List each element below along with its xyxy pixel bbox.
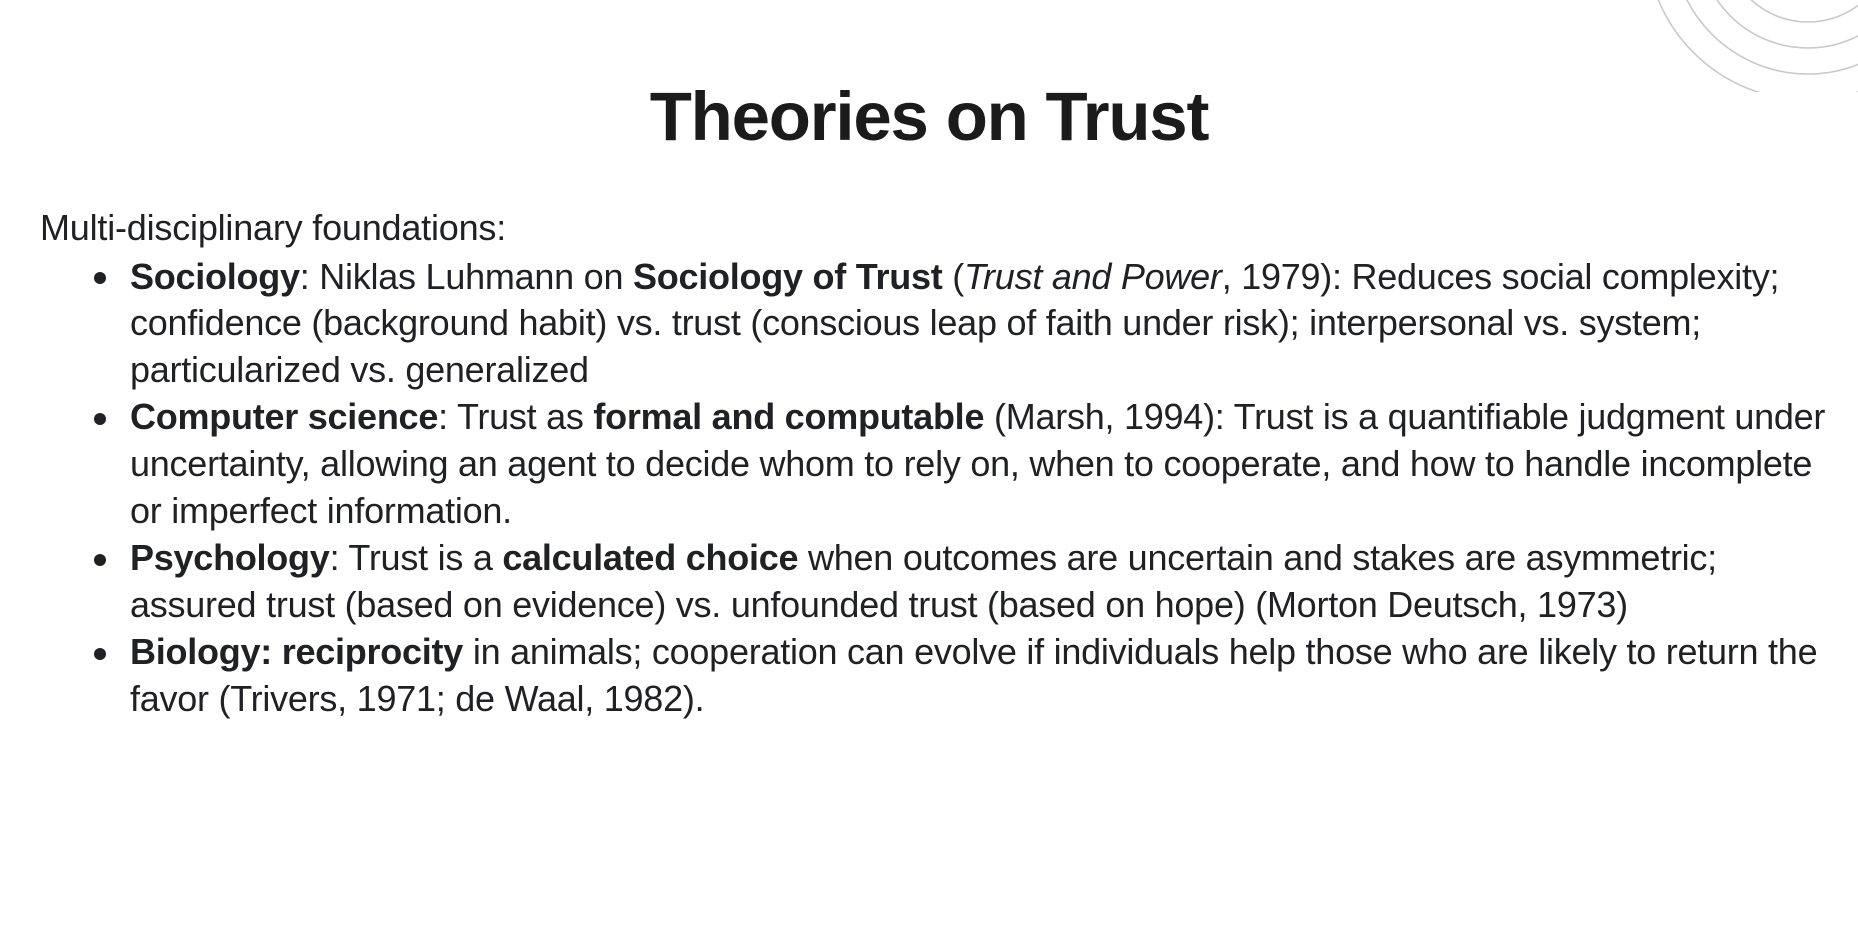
bullet-dot-icon <box>94 272 106 284</box>
text-run-bold: Biology: reciprocity <box>130 631 463 672</box>
corner-arcs-decoration <box>1638 0 1858 92</box>
bullet-item-sociology: Sociology: Niklas Luhmann on Sociology o… <box>40 254 1838 395</box>
bullet-text-sociology: Sociology: Niklas Luhmann on Sociology o… <box>130 256 1779 391</box>
text-run-regular: ( <box>942 256 964 297</box>
bullet-dot-icon <box>94 413 106 425</box>
bullet-item-psychology: Psychology: Trust is a calculated choice… <box>40 535 1838 629</box>
intro-text: Multi-disciplinary foundations: <box>40 204 1838 252</box>
bullet-item-computer-science: Computer science: Trust as formal and co… <box>40 394 1838 535</box>
slide-title: Theories on Trust <box>0 80 1858 153</box>
text-run-bold: formal and computable <box>593 396 984 437</box>
slide-body: Multi-disciplinary foundations: Sociolog… <box>40 168 1838 723</box>
text-run-bold: Computer science <box>130 396 438 437</box>
presentation-slide: Theories on Trust Multi-disciplinary fou… <box>0 0 1858 930</box>
text-run-bold: Sociology of Trust <box>633 256 943 297</box>
text-run-bold: Psychology <box>130 537 330 578</box>
text-run-regular: : Trust as <box>438 396 593 437</box>
bullet-text-biology: Biology: reciprocity in animals; coopera… <box>130 631 1817 719</box>
bullet-text-computer-science: Computer science: Trust as formal and co… <box>130 396 1825 531</box>
text-run-bold: Sociology <box>130 256 300 297</box>
text-run-regular: : Trust is a <box>330 537 503 578</box>
text-run-italic: Trust and Power <box>964 256 1222 297</box>
bullet-list: Sociology: Niklas Luhmann on Sociology o… <box>40 254 1838 724</box>
bullet-item-biology: Biology: reciprocity in animals; coopera… <box>40 629 1838 723</box>
bullet-dot-icon <box>94 648 106 660</box>
bullet-text-psychology: Psychology: Trust is a calculated choice… <box>130 537 1717 625</box>
bullet-dot-icon <box>94 554 106 566</box>
text-run-regular: : Niklas Luhmann on <box>300 256 633 297</box>
text-run-bold: calculated choice <box>502 537 798 578</box>
